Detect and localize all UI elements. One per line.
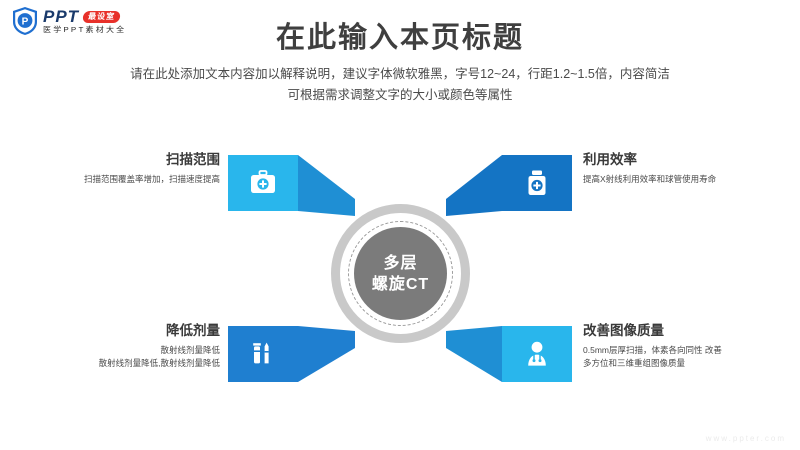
node-scan-range-title: 扫描范围 [20,151,220,169]
node-dose-text: 降低剂量 散射线剂量降低 散射线剂量降低,散射线剂量降低 [20,322,220,370]
node-scan-range-text: 扫描范围 扫描范围覆盖率增加，扫描速度提高 [20,151,220,186]
node-image-quality-text: 改善图像质量 0.5mm层厚扫描，体素各向同性 改善 多方位和三维重组图像质量 [583,322,798,370]
node-dose-desc-1: 散射线剂量降低 [20,344,220,357]
doctor-icon [524,340,550,368]
hub-core: 多层 螺旋CT [354,227,447,320]
node-image-quality-tile[interactable] [502,326,572,382]
hub-label-line-1: 多层 [383,254,417,273]
node-efficiency-title: 利用效率 [583,151,793,169]
node-scan-range-tile[interactable] [228,155,298,211]
node-dose-title: 降低剂量 [20,322,220,340]
medical-bag-icon [249,170,277,196]
page-title: 在此输入本页标题 [0,14,800,56]
center-hub: 多层 螺旋CT [331,204,470,343]
node-image-quality-desc-1: 0.5mm层厚扫描，体素各向同性 改善 [583,344,798,357]
node-dose-tile[interactable] [228,326,298,382]
node-scan-range-desc-1: 扫描范围覆盖率增加，扫描速度提高 [20,173,220,186]
node-image-quality-title: 改善图像质量 [583,322,798,340]
subtitle-line-1: 请在此处添加文本内容加以解释说明，建议字体微软雅黑，字号12~24，行距1.2~… [0,64,800,85]
node-image-quality-desc-2: 多方位和三维重组图像质量 [583,357,798,370]
footer-watermark: www.ppter.com [706,434,786,443]
node-efficiency-tile[interactable] [502,155,572,211]
subtitle-line-2: 可根据需求调整文字的大小或颜色等属性 [0,85,800,106]
node-efficiency-text: 利用效率 提高X射线利用效率和球管使用寿命 [583,151,793,186]
hub-label-line-2: 螺旋CT [372,275,429,294]
node-efficiency-desc-1: 提高X射线利用效率和球管使用寿命 [583,173,793,186]
vials-icon [249,340,277,368]
node-dose-desc-2: 散射线剂量降低,散射线剂量降低 [20,357,220,370]
page-subtitle: 请在此处添加文本内容加以解释说明，建议字体微软雅黑，字号12~24，行距1.2~… [0,64,800,106]
medicine-bottle-icon [525,169,549,197]
